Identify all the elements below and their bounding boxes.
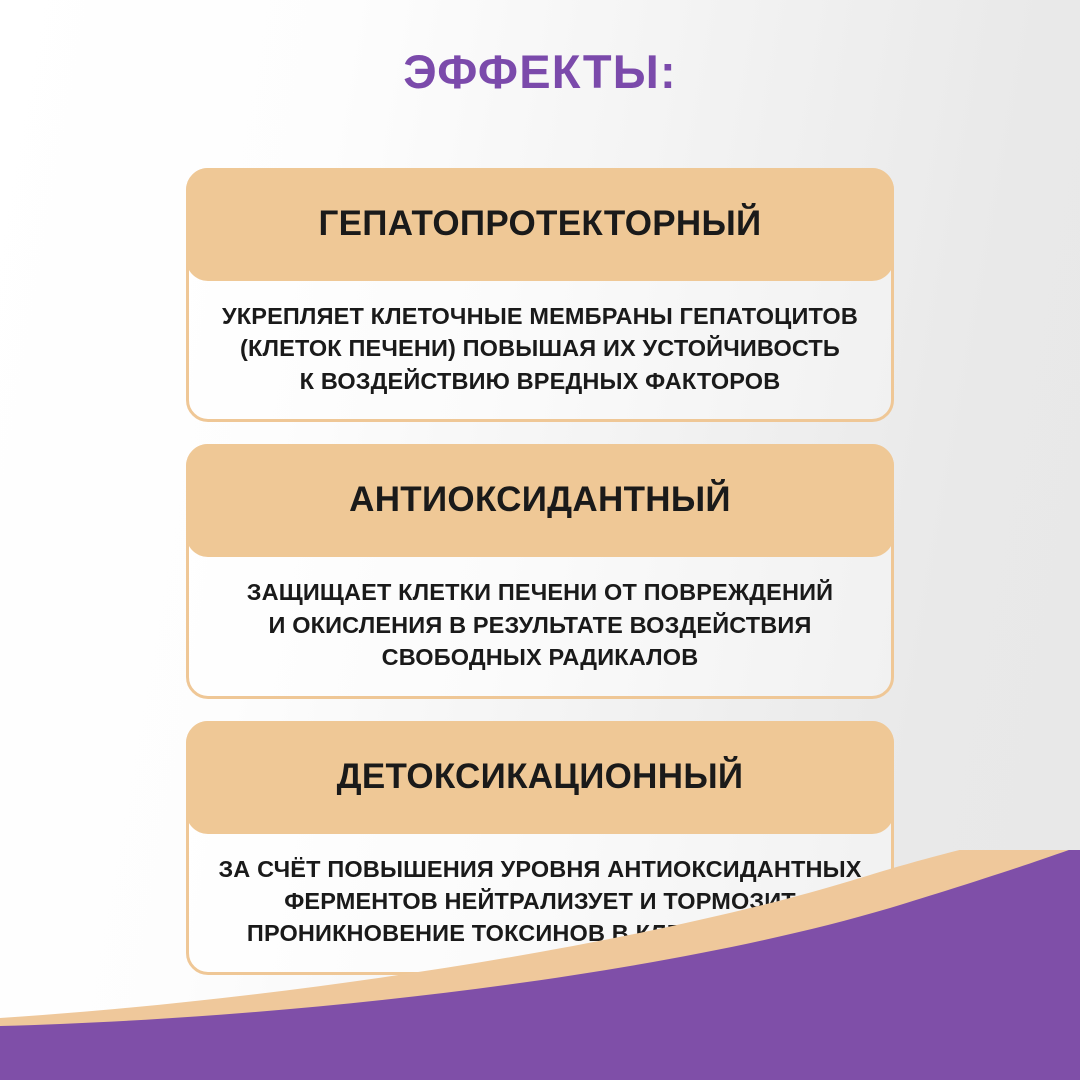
effect-card-heading: АНТИОКСИДАНТНЫЙ [186,444,894,557]
description-line: ЗА СЧЁТ ПОВЫШЕНИЯ УРОВНЯ АНТИОКСИДАНТНЫХ [203,853,877,885]
effect-card: ДЕТОКСИКАЦИОННЫЙ ЗА СЧЁТ ПОВЫШЕНИЯ УРОВН… [186,721,894,975]
description-line: И ОКИСЛЕНИЯ В РЕЗУЛЬТАТЕ ВОЗДЕЙСТВИЯ [203,609,877,641]
effect-card-description: ЗАЩИЩАЕТ КЛЕТКИ ПЕЧЕНИ ОТ ПОВРЕЖДЕНИЙ И … [189,557,891,695]
effects-card-list: ГЕПАТОПРОТЕКТОРНЫЙ УКРЕПЛЯЕТ КЛЕТОЧНЫЕ М… [186,168,894,997]
description-line: УКРЕПЛЯЕТ КЛЕТОЧНЫЕ МЕМБРАНЫ ГЕПАТОЦИТОВ [203,300,877,332]
description-line: К ВОЗДЕЙСТВИЮ ВРЕДНЫХ ФАКТОРОВ [203,365,877,397]
description-line: СВОБОДНЫХ РАДИКАЛОВ [203,641,877,673]
effect-card-description: ЗА СЧЁТ ПОВЫШЕНИЯ УРОВНЯ АНТИОКСИДАНТНЫХ… [189,834,891,972]
description-line: ПРОНИКНОВЕНИЕ ТОКСИНОВ В КЛЕТКУ ПЕЧЕНИ [203,917,877,949]
effect-card: ГЕПАТОПРОТЕКТОРНЫЙ УКРЕПЛЯЕТ КЛЕТОЧНЫЕ М… [186,168,894,422]
description-line: ЗАЩИЩАЕТ КЛЕТКИ ПЕЧЕНИ ОТ ПОВРЕЖДЕНИЙ [203,576,877,608]
page-title: ЭФФЕКТЫ: [0,44,1080,99]
effect-card-description: УКРЕПЛЯЕТ КЛЕТОЧНЫЕ МЕМБРАНЫ ГЕПАТОЦИТОВ… [189,281,891,419]
poster-canvas: ЭФФЕКТЫ: ГЕПАТОПРОТЕКТОРНЫЙ УКРЕПЛЯЕТ КЛ… [0,0,1080,1080]
effect-card-heading: ДЕТОКСИКАЦИОННЫЙ [186,721,894,834]
effect-card-heading: ГЕПАТОПРОТЕКТОРНЫЙ [186,168,894,281]
description-line: (КЛЕТОК ПЕЧЕНИ) ПОВЫШАЯ ИХ УСТОЙЧИВОСТЬ [203,332,877,364]
effect-card: АНТИОКСИДАНТНЫЙ ЗАЩИЩАЕТ КЛЕТКИ ПЕЧЕНИ О… [186,444,894,698]
description-line: ФЕРМЕНТОВ НЕЙТРАЛИЗУЕТ И ТОРМОЗИТ [203,885,877,917]
